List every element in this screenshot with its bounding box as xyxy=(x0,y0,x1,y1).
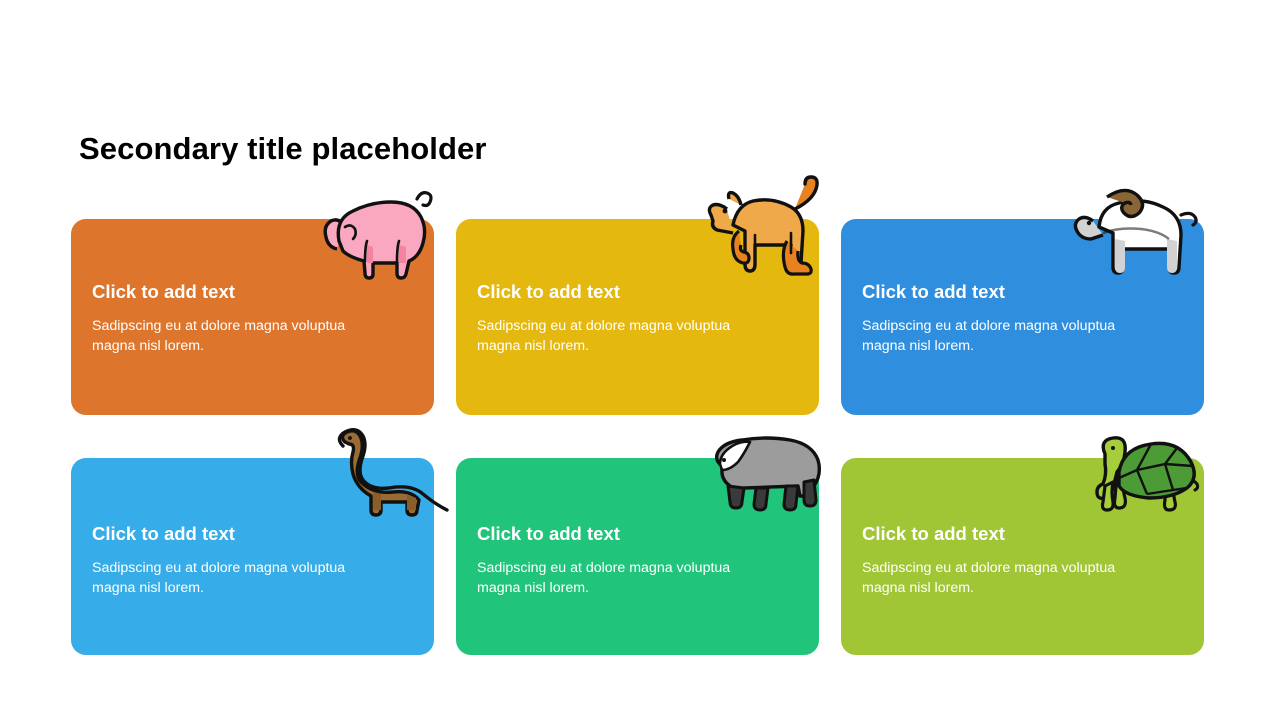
card-heading-5: Click to add text xyxy=(477,524,798,544)
card-text-6: Click to add text Sadipscing eu at dolor… xyxy=(862,524,1183,599)
cards-grid: Click to add text Sadipscing eu at dolor… xyxy=(71,219,1208,655)
content-card-6[interactable]: Click to add text Sadipscing eu at dolor… xyxy=(841,458,1204,655)
slide-canvas: Secondary title placeholder Click to add… xyxy=(0,0,1280,720)
content-card-1[interactable]: Click to add text Sadipscing eu at dolor… xyxy=(71,219,434,415)
content-card-2[interactable]: Click to add text Sadipscing eu at dolor… xyxy=(456,219,819,415)
card-body-4: Sadipscing eu at dolore magna voluptua m… xyxy=(92,558,382,599)
page-title: Secondary title placeholder xyxy=(79,131,487,167)
card-text-2: Click to add text Sadipscing eu at dolor… xyxy=(477,282,798,357)
card-body-5: Sadipscing eu at dolore magna voluptua m… xyxy=(477,558,767,599)
card-text-3: Click to add text Sadipscing eu at dolor… xyxy=(862,282,1183,357)
card-heading-1: Click to add text xyxy=(92,282,413,302)
content-card-4[interactable]: Click to add text Sadipscing eu at dolor… xyxy=(71,458,434,655)
card-heading-2: Click to add text xyxy=(477,282,798,302)
card-body-3: Sadipscing eu at dolore magna voluptua m… xyxy=(862,316,1152,357)
card-text-1: Click to add text Sadipscing eu at dolor… xyxy=(92,282,413,357)
card-text-4: Click to add text Sadipscing eu at dolor… xyxy=(92,524,413,599)
card-body-1: Sadipscing eu at dolore magna voluptua m… xyxy=(92,316,382,357)
card-body-6: Sadipscing eu at dolore magna voluptua m… xyxy=(862,558,1152,599)
card-heading-6: Click to add text xyxy=(862,524,1183,544)
content-card-5[interactable]: Click to add text Sadipscing eu at dolor… xyxy=(456,458,819,655)
card-heading-3: Click to add text xyxy=(862,282,1183,302)
card-text-5: Click to add text Sadipscing eu at dolor… xyxy=(477,524,798,599)
card-body-2: Sadipscing eu at dolore magna voluptua m… xyxy=(477,316,767,357)
card-heading-4: Click to add text xyxy=(92,524,413,544)
content-card-3[interactable]: Click to add text Sadipscing eu at dolor… xyxy=(841,219,1204,415)
